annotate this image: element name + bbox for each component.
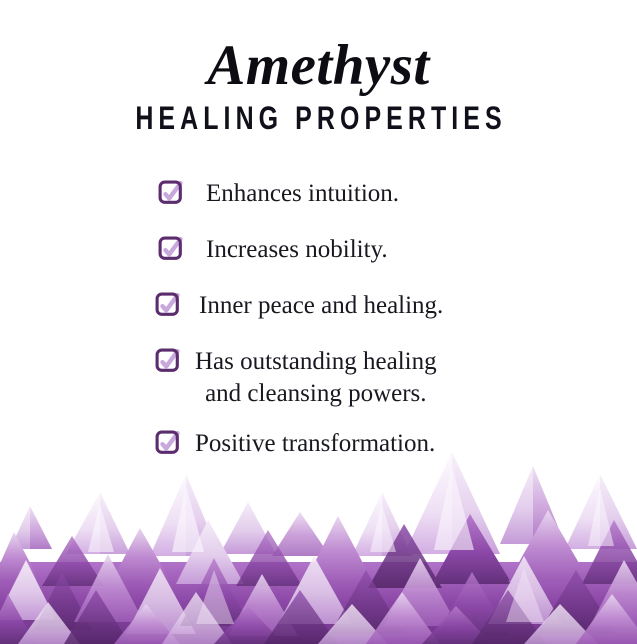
list-item: Increases nobility.: [0, 234, 637, 266]
list-item-label: Enhances intuition.: [198, 178, 399, 210]
list-item-label: Inner peace and healing.: [195, 290, 443, 322]
healing-properties-list: Enhances intuition. Increases nobility. …: [0, 178, 637, 460]
list-item-label: Has outstanding healing and cleansing po…: [195, 346, 437, 410]
page-subtitle: HEALING PROPERTIES: [70, 96, 567, 136]
amethyst-crystal-cluster-image: [0, 444, 637, 644]
checked-checkbox-icon: [155, 348, 181, 374]
checked-checkbox-icon: [158, 236, 184, 262]
amethyst-healing-properties-card: Amethyst HEALING PROPERTIES Enhances int…: [0, 0, 637, 644]
header: Amethyst HEALING PROPERTIES: [0, 0, 637, 135]
list-item: Has outstanding healing and cleansing po…: [0, 346, 637, 410]
list-item-label: Increases nobility.: [198, 234, 388, 266]
list-item: Positive transformation.: [0, 428, 637, 460]
checked-checkbox-icon: [155, 430, 181, 456]
list-item: Inner peace and healing.: [0, 290, 637, 322]
list-item: Enhances intuition.: [0, 178, 637, 210]
checked-checkbox-icon: [155, 292, 181, 318]
page-title: Amethyst: [0, 0, 637, 96]
list-item-label: Positive transformation.: [195, 428, 435, 460]
checked-checkbox-icon: [158, 180, 184, 206]
